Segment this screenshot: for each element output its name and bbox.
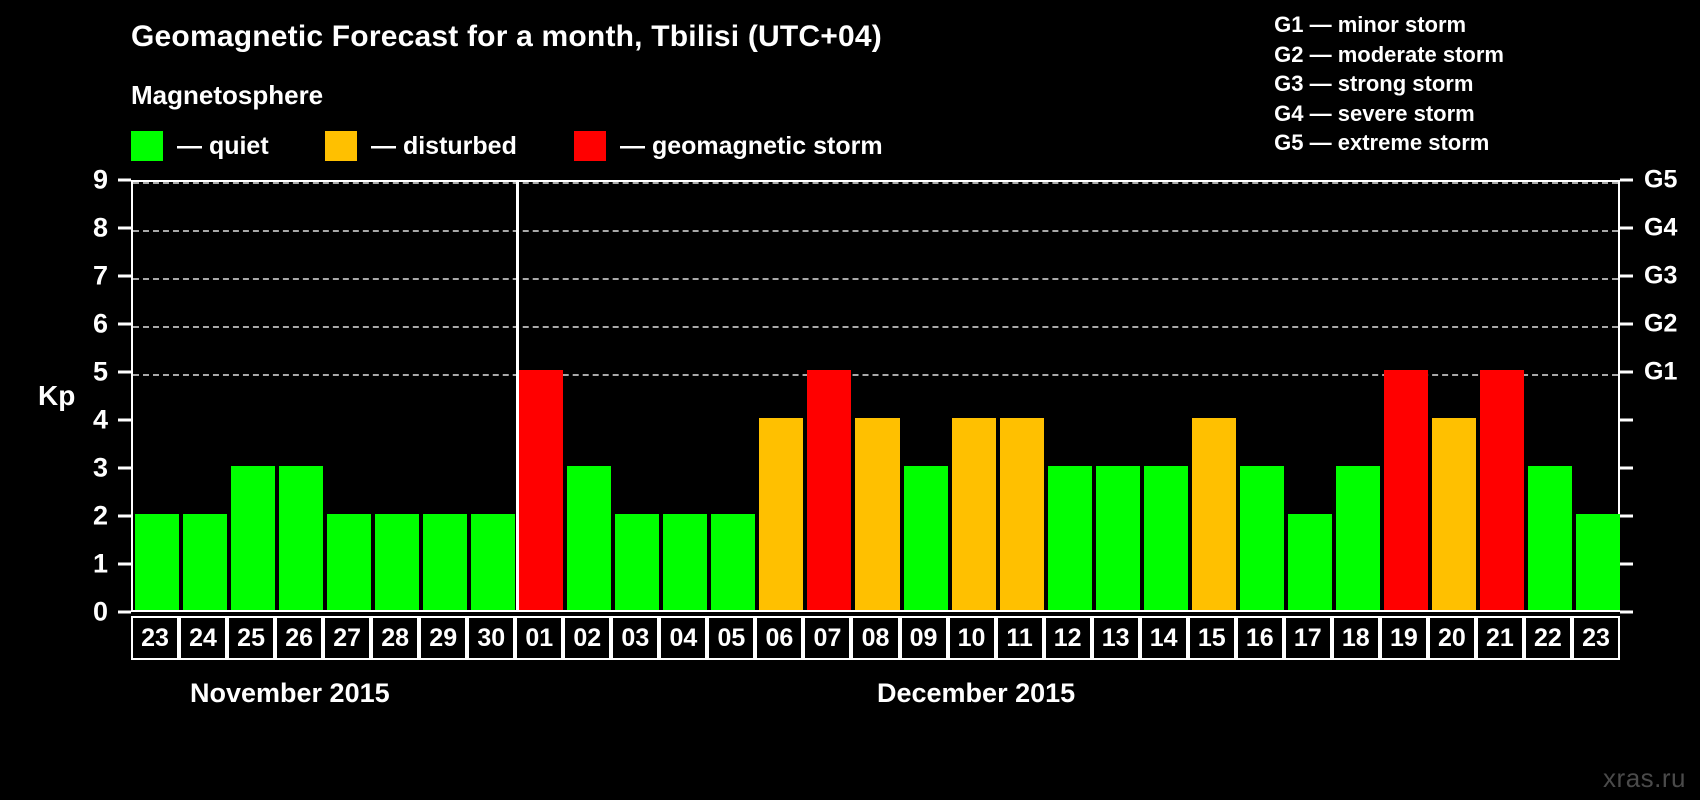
bar-day-13[interactable] <box>1096 466 1140 610</box>
g-scale-row-g1: G1 — minor storm <box>1274 10 1504 40</box>
plot-frame <box>131 180 1620 612</box>
g-tick-mark-kp-4 <box>1620 419 1633 422</box>
month-divider-line <box>516 182 519 610</box>
day-label-3[interactable]: 26 <box>275 616 323 660</box>
day-label-28[interactable]: 21 <box>1476 616 1524 660</box>
bars-layer <box>133 182 1618 610</box>
day-label-17[interactable]: 10 <box>948 616 996 660</box>
g-tick-mark-kp-3 <box>1620 467 1633 470</box>
g-tick-mark-kp-6 <box>1620 323 1633 326</box>
day-label-10[interactable]: 03 <box>611 616 659 660</box>
bar-day-02[interactable] <box>567 466 611 610</box>
legend-swatch-quiet <box>131 131 163 161</box>
g-axis-label-g4: G4 <box>1644 216 1677 241</box>
g-tick-mark-kp-2 <box>1620 515 1633 518</box>
y-tick-mark-9 <box>118 179 131 182</box>
plot-area <box>133 182 1618 610</box>
day-label-18[interactable]: 11 <box>996 616 1044 660</box>
g-tick-mark-kp-5 <box>1620 371 1633 374</box>
bar-day-12[interactable] <box>1048 466 1092 610</box>
day-label-25[interactable]: 18 <box>1332 616 1380 660</box>
bar-day-03[interactable] <box>615 514 659 610</box>
bar-day-15[interactable] <box>1192 418 1236 610</box>
y-tick-mark-2 <box>118 515 131 518</box>
bar-day-19[interactable] <box>1384 370 1428 610</box>
bar-day-23[interactable] <box>1576 514 1620 610</box>
day-label-21[interactable]: 14 <box>1140 616 1188 660</box>
bar-day-08[interactable] <box>855 418 899 610</box>
y-tick-label-9: 9 <box>68 167 108 194</box>
bar-day-26[interactable] <box>279 466 323 610</box>
y-tick-label-0: 0 <box>68 599 108 626</box>
day-label-4[interactable]: 27 <box>323 616 371 660</box>
month-caption-1: December 2015 <box>877 678 1075 709</box>
bar-day-10[interactable] <box>952 418 996 610</box>
day-label-8[interactable]: 01 <box>515 616 563 660</box>
g-tick-mark-kp-1 <box>1620 563 1633 566</box>
bar-day-28[interactable] <box>375 514 419 610</box>
day-label-26[interactable]: 19 <box>1380 616 1428 660</box>
y-tick-label-1: 1 <box>68 551 108 578</box>
g-tick-mark-kp-7 <box>1620 275 1633 278</box>
bar-day-06[interactable] <box>759 418 803 610</box>
bar-day-09[interactable] <box>904 466 948 610</box>
legend-entry-quiet: — quiet <box>131 128 269 164</box>
bar-day-04[interactable] <box>663 514 707 610</box>
legend-label-disturbed: — disturbed <box>371 132 517 161</box>
g-axis-label-g3: G3 <box>1644 264 1677 289</box>
day-label-5[interactable]: 28 <box>371 616 419 660</box>
bar-day-25[interactable] <box>231 466 275 610</box>
bar-day-20[interactable] <box>1432 418 1476 610</box>
y-tick-label-2: 2 <box>68 503 108 530</box>
g-tick-mark-kp-0 <box>1620 611 1633 614</box>
day-label-22[interactable]: 15 <box>1188 616 1236 660</box>
bar-day-27[interactable] <box>327 514 371 610</box>
day-label-9[interactable]: 02 <box>563 616 611 660</box>
day-label-30[interactable]: 23 <box>1572 616 1620 660</box>
y-axis-title: Kp <box>38 380 75 412</box>
bar-day-18[interactable] <box>1336 466 1380 610</box>
x-axis-day-labels: 2324252627282930010203040506070809101112… <box>131 616 1620 660</box>
bar-day-24[interactable] <box>183 514 227 610</box>
day-label-16[interactable]: 09 <box>900 616 948 660</box>
g-tick-mark-kp-8 <box>1620 227 1633 230</box>
bar-day-30[interactable] <box>471 514 515 610</box>
g-scale-legend: G1 — minor stormG2 — moderate stormG3 — … <box>1274 10 1504 158</box>
day-label-6[interactable]: 29 <box>419 616 467 660</box>
bar-day-07[interactable] <box>807 370 851 610</box>
day-label-24[interactable]: 17 <box>1284 616 1332 660</box>
month-caption-0: November 2015 <box>190 678 390 709</box>
legend-swatch-disturbed <box>325 131 357 161</box>
bar-day-23[interactable] <box>135 514 179 610</box>
day-label-29[interactable]: 22 <box>1524 616 1572 660</box>
legend-swatch-geomagnetic-storm <box>574 131 606 161</box>
day-label-19[interactable]: 12 <box>1044 616 1092 660</box>
g-scale-row-g3: G3 — strong storm <box>1274 69 1504 99</box>
day-label-12[interactable]: 05 <box>707 616 755 660</box>
y-tick-mark-7 <box>118 275 131 278</box>
g-tick-mark-kp-9 <box>1620 179 1633 182</box>
bar-day-16[interactable] <box>1240 466 1284 610</box>
bar-day-22[interactable] <box>1528 466 1572 610</box>
day-label-15[interactable]: 08 <box>851 616 899 660</box>
legend-entry-disturbed: — disturbed <box>325 128 517 164</box>
y-tick-mark-0 <box>118 611 131 614</box>
day-label-7[interactable]: 30 <box>467 616 515 660</box>
page-title: Geomagnetic Forecast for a month, Tbilis… <box>131 20 882 54</box>
y-tick-label-8: 8 <box>68 215 108 242</box>
y-tick-label-3: 3 <box>68 455 108 482</box>
g-scale-row-g4: G4 — severe storm <box>1274 99 1504 129</box>
bar-day-05[interactable] <box>711 514 755 610</box>
day-label-2[interactable]: 25 <box>227 616 275 660</box>
y-tick-label-7: 7 <box>68 263 108 290</box>
day-label-14[interactable]: 07 <box>803 616 851 660</box>
watermark: xras.ru <box>1603 763 1686 794</box>
day-label-23[interactable]: 16 <box>1236 616 1284 660</box>
g-scale-row-g2: G2 — moderate storm <box>1274 40 1504 70</box>
y-tick-mark-1 <box>118 563 131 566</box>
g-axis-label-g5: G5 <box>1644 168 1677 193</box>
legend-label-quiet: — quiet <box>177 132 269 161</box>
y-tick-mark-8 <box>118 227 131 230</box>
bar-day-21[interactable] <box>1480 370 1524 610</box>
day-label-11[interactable]: 04 <box>659 616 707 660</box>
day-label-0[interactable]: 23 <box>131 616 179 660</box>
g-scale-row-g5: G5 — extreme storm <box>1274 128 1504 158</box>
y-tick-mark-4 <box>118 419 131 422</box>
bar-day-29[interactable] <box>423 514 467 610</box>
g-axis-label-g1: G1 <box>1644 360 1677 385</box>
day-label-1[interactable]: 24 <box>179 616 227 660</box>
day-label-13[interactable]: 06 <box>755 616 803 660</box>
legend-label-geomagnetic-storm: — geomagnetic storm <box>620 132 883 161</box>
y-tick-label-6: 6 <box>68 311 108 338</box>
g-axis-label-g2: G2 <box>1644 312 1677 337</box>
bar-day-01[interactable] <box>519 370 563 610</box>
day-label-27[interactable]: 20 <box>1428 616 1476 660</box>
day-label-20[interactable]: 13 <box>1092 616 1140 660</box>
bar-day-17[interactable] <box>1288 514 1332 610</box>
bar-day-11[interactable] <box>1000 418 1044 610</box>
magnetosphere-label: Magnetosphere <box>131 80 323 111</box>
legend-entry-geomagnetic-storm: — geomagnetic storm <box>574 128 883 164</box>
y-tick-mark-3 <box>118 467 131 470</box>
y-tick-mark-6 <box>118 323 131 326</box>
y-tick-mark-5 <box>118 371 131 374</box>
bar-day-14[interactable] <box>1144 466 1188 610</box>
